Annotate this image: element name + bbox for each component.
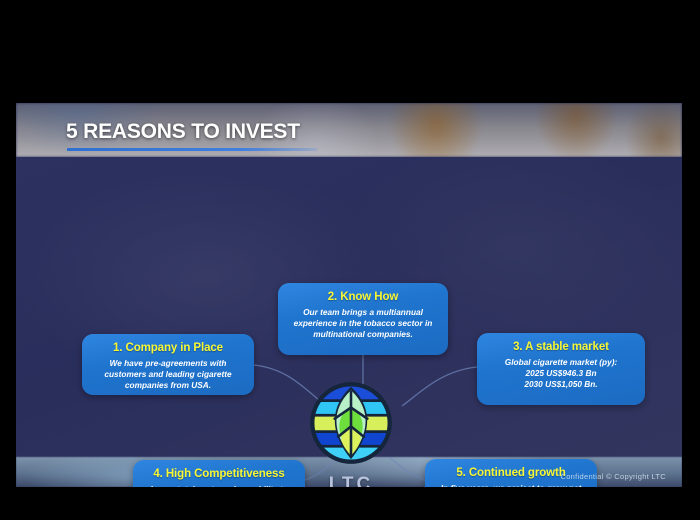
- reason-body: Global cigarette market (py): 2025 US$94…: [487, 357, 635, 390]
- reason-heading: 3. A stable market: [487, 341, 635, 353]
- reason-card-1[interactable]: 1. Company in Place We have pre-agreemen…: [82, 334, 254, 395]
- reason-heading: 4. High Competitiveness: [143, 468, 295, 480]
- title-underline: [67, 148, 317, 151]
- reason-card-4[interactable]: 4. High Competitiveness Lower total cost…: [133, 460, 305, 487]
- reason-body: Our team brings a multiannual experience…: [288, 307, 438, 340]
- reason-line: Lower total costs and our ability to: [150, 484, 287, 487]
- reason-body: In five years, we project to grow net re…: [435, 483, 587, 487]
- reason-line: In five years, we project to grow net: [441, 483, 582, 487]
- reason-line: Global cigarette market (py):: [505, 357, 618, 367]
- reason-line-market-2025: 2025 US$946.3 Bn: [525, 368, 596, 378]
- presentation-slide: 5 REASONS TO INVEST 1. Company in Place …: [16, 103, 682, 487]
- reason-card-3[interactable]: 3. A stable market Global cigarette mark…: [477, 333, 645, 405]
- reason-line: Our team brings a multiannual: [303, 307, 423, 317]
- reason-heading: 2. Know How: [288, 291, 438, 303]
- page-title: 5 REASONS TO INVEST: [66, 120, 300, 144]
- reason-heading: 1. Company in Place: [92, 342, 244, 354]
- reason-body: Lower total costs and our ability to tak…: [143, 484, 295, 487]
- reason-line: companies from USA.: [125, 380, 211, 390]
- reason-card-2[interactable]: 2. Know How Our team brings a multiannua…: [278, 283, 448, 355]
- copyright-notice: Confidential © Copyright LTC: [561, 472, 667, 481]
- reason-line-market-2030: 2030 US$1,050 Bn.: [524, 379, 597, 389]
- reason-line: We have pre-agreements with: [110, 358, 227, 368]
- reason-line: multinational companies.: [313, 329, 413, 339]
- slide-viewer: 5 REASONS TO INVEST 1. Company in Place …: [0, 0, 700, 520]
- reason-line: experience in the tobacco sector in: [294, 318, 433, 328]
- globe-leaf-logo-icon: [308, 380, 394, 466]
- brand-label: LTC: [308, 474, 394, 487]
- reason-body: We have pre-agreements with customers an…: [92, 358, 244, 391]
- reason-line: customers and leading cigarette: [104, 369, 231, 379]
